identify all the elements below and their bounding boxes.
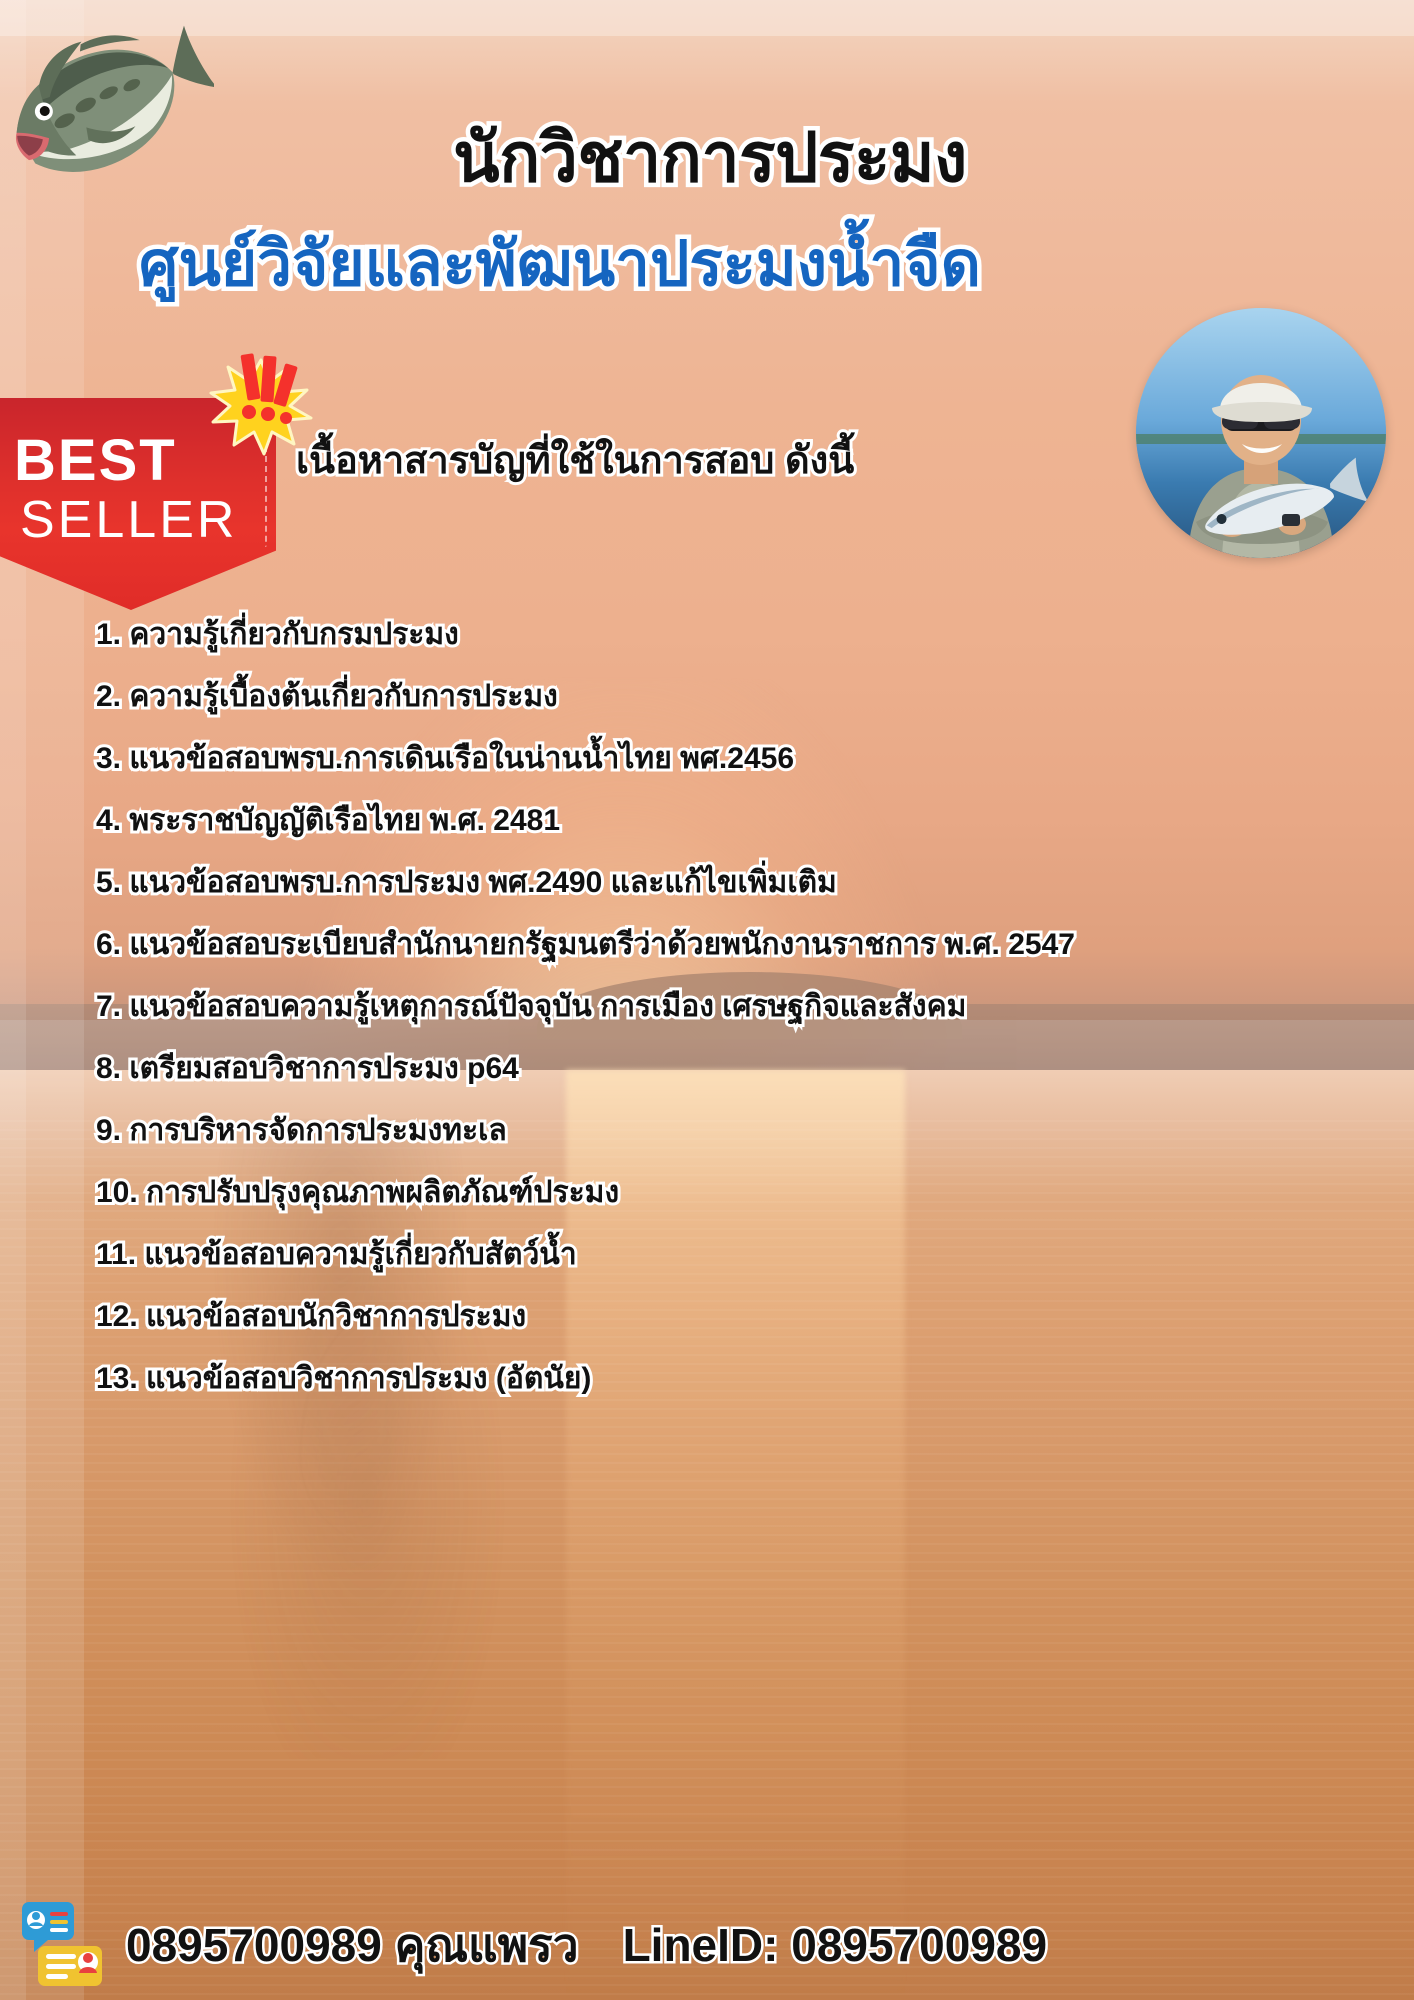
angler-photo bbox=[1136, 308, 1386, 558]
page-title: นักวิชาการประมง bbox=[270, 122, 1150, 195]
bass-fish-illustration bbox=[4, 0, 214, 244]
footer-contact-bar: 0895700989 คุณแพรว LineID: 0895700989 bbox=[0, 1890, 1414, 2000]
list-item: 1. ความรู้เกี่ยวกับกรมประมง bbox=[96, 620, 1196, 650]
poster-canvas: นักวิชาการประมง ศูนย์วิจัยและพัฒนาประมงน… bbox=[0, 0, 1414, 2000]
list-item: 10. การปรับปรุงคุณภาพผลิตภัณฑ์ประมง bbox=[96, 1178, 1196, 1208]
footer-line-id[interactable]: LineID: 0895700989 bbox=[623, 1922, 1048, 1968]
footer-phone[interactable]: 0895700989 คุณแพรว bbox=[126, 1922, 579, 1968]
topic-list: 1. ความรู้เกี่ยวกับกรมประมง 2. ความรู้เบ… bbox=[96, 620, 1196, 1426]
list-item: 12. แนวข้อสอบนักวิชาการประมง bbox=[96, 1302, 1196, 1332]
contact-icons bbox=[16, 1900, 126, 1990]
list-item: 8. เตรียมสอบวิชาการประมง p64 bbox=[96, 1054, 1196, 1084]
badge-seller-label: SELLER bbox=[20, 494, 250, 546]
list-item: 13. แนวข้อสอบวิชาการประมง (อัตนัย) bbox=[96, 1364, 1196, 1394]
list-item: 4. พระราชบัญญัติเรือไทย พ.ศ. 2481 bbox=[96, 806, 1196, 836]
list-item: 5. แนวข้อสอบพรบ.การประมง พศ.2490 และแก้ไ… bbox=[96, 868, 1196, 898]
list-item: 7. แนวข้อสอบความรู้เหตุการณ์ปัจจุบัน การ… bbox=[96, 992, 1196, 1022]
list-item: 3. แนวข้อสอบพรบ.การเดินเรือในน่านน้ำไทย … bbox=[96, 744, 1196, 774]
page-subtitle: ศูนย์วิจัยและพัฒนาประมงน้ำจืด bbox=[50, 232, 1070, 299]
chat-bubble-icon bbox=[22, 1902, 74, 1952]
content-header: เนื้อหาสารบัญที่ใช้ในการสอบ ดังนี้ bbox=[296, 440, 976, 484]
list-item: 11. แนวข้อสอบความรู้เกี่ยวกับสัตว์น้ำ bbox=[96, 1240, 1196, 1270]
list-item: 9. การบริหารจัดการประมงทะเล bbox=[96, 1116, 1196, 1146]
list-item: 2. ความรู้เบื้องต้นเกี่ยวกับการประมง bbox=[96, 682, 1196, 712]
list-item: 6. แนวข้อสอบระเบียบสำนักนายกรัฐมนตรีว่าด… bbox=[96, 930, 1196, 960]
starburst-icon bbox=[208, 352, 314, 456]
contact-card-icon bbox=[38, 1946, 102, 1986]
